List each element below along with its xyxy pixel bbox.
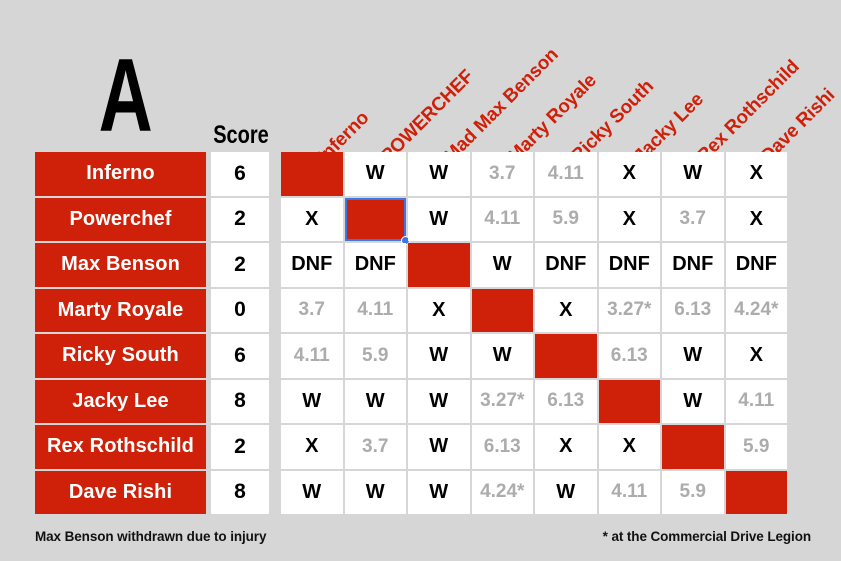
matrix-cell-5-3[interactable]: 3.27* [472,380,534,424]
column-gap [269,425,281,469]
results-matrix[interactable]: Inferno6WW3.74.11XWXPowerchef2XW4.115.9X… [35,152,787,514]
row-label-4[interactable]: Ricky South [35,334,206,378]
matrix-cell-6-2[interactable]: W [408,425,470,469]
matrix-cell-1-0[interactable]: X [281,198,343,242]
footnote-right: * at the Commercial Drive Legion [603,529,811,544]
row-label-0[interactable]: Inferno [35,152,206,196]
column-gap [269,198,281,242]
matrix-cell-2-7[interactable]: DNF [726,243,788,287]
matrix-cell-4-4[interactable] [535,334,597,378]
matrix-cell-0-1[interactable]: W [345,152,407,196]
matrix-cell-5-2[interactable]: W [408,380,470,424]
matrix-cell-3-7[interactable]: 4.24* [726,289,788,333]
matrix-cell-7-6[interactable]: 5.9 [662,471,724,515]
matrix-cell-3-3[interactable] [472,289,534,333]
matrix-cell-1-2[interactable]: W [408,198,470,242]
matrix-cell-0-0[interactable] [281,152,343,196]
matrix-cell-7-0[interactable]: W [281,471,343,515]
score-cell-3[interactable]: 0 [211,289,269,333]
score-cell-4[interactable]: 6 [211,334,269,378]
row-label-1[interactable]: Powerchef [35,198,206,242]
table-row: Jacky Lee8WWW3.27*6.13W4.11 [35,380,787,424]
matrix-cell-7-5[interactable]: 4.11 [599,471,661,515]
matrix-cell-4-6[interactable]: W [662,334,724,378]
matrix-cell-5-0[interactable]: W [281,380,343,424]
matrix-cell-4-2[interactable]: W [408,334,470,378]
matrix-row-3: 3.74.11XX3.27*6.134.24* [281,289,787,333]
matrix-cell-4-0[interactable]: 4.11 [281,334,343,378]
row-label-5[interactable]: Jacky Lee [35,380,206,424]
matrix-cell-4-7[interactable]: X [726,334,788,378]
matrix-cell-6-0[interactable]: X [281,425,343,469]
column-gap [269,289,281,333]
matrix-cell-6-1[interactable]: 3.7 [345,425,407,469]
matrix-cell-6-7[interactable]: 5.9 [726,425,788,469]
matrix-cell-1-3[interactable]: 4.11 [472,198,534,242]
matrix-cell-5-7[interactable]: 4.11 [726,380,788,424]
score-cell-1[interactable]: 2 [211,198,269,242]
matrix-cell-5-4[interactable]: 6.13 [535,380,597,424]
score-cell-2[interactable]: 2 [211,243,269,287]
matrix-cell-2-5[interactable]: DNF [599,243,661,287]
matrix-cell-3-0[interactable]: 3.7 [281,289,343,333]
column-gap [269,152,281,196]
score-cell-5[interactable]: 8 [211,380,269,424]
column-gap [269,471,281,515]
matrix-cell-3-4[interactable]: X [535,289,597,333]
row-label-7[interactable]: Dave Rishi [35,471,206,515]
matrix-cell-1-4[interactable]: 5.9 [535,198,597,242]
matrix-cell-2-6[interactable]: DNF [662,243,724,287]
matrix-row-4: 4.115.9WW6.13WX [281,334,787,378]
row-label-2[interactable]: Max Benson [35,243,206,287]
table-row: Max Benson2DNFDNFWDNFDNFDNFDNF [35,243,787,287]
matrix-cell-7-1[interactable]: W [345,471,407,515]
matrix-cell-6-4[interactable]: X [535,425,597,469]
matrix-row-2: DNFDNFWDNFDNFDNFDNF [281,243,787,287]
matrix-cell-4-1[interactable]: 5.9 [345,334,407,378]
matrix-row-6: X3.7W6.13XX5.9 [281,425,787,469]
matrix-cell-2-0[interactable]: DNF [281,243,343,287]
matrix-cell-6-5[interactable]: X [599,425,661,469]
matrix-cell-2-4[interactable]: DNF [535,243,597,287]
column-header-0: Inferno [314,107,359,152]
matrix-cell-1-7[interactable]: X [726,198,788,242]
column-gap [269,243,281,287]
matrix-cell-5-1[interactable]: W [345,380,407,424]
matrix-row-0: WW3.74.11XWX [281,152,787,196]
matrix-cell-2-1[interactable]: DNF [345,243,407,287]
matrix-cell-0-6[interactable]: W [662,152,724,196]
matrix-cell-0-5[interactable]: X [599,152,661,196]
footnote-left: Max Benson withdrawn due to injury [35,529,266,544]
matrix-cell-3-2[interactable]: X [408,289,470,333]
column-gap [269,334,281,378]
column-gap [269,380,281,424]
score-cell-6[interactable]: 2 [211,425,269,469]
table-row: Powerchef2XW4.115.9X3.7X [35,198,787,242]
matrix-cell-7-2[interactable]: W [408,471,470,515]
column-headers: InfernoPOWERCHEFMad Max BensonMarty Roya… [0,0,841,152]
column-header-1: POWERCHEF [377,66,463,152]
table-row: Ricky South64.115.9WW6.13WX [35,334,787,378]
table-row: Dave Rishi8WWW4.24*W4.115.9 [35,471,787,515]
table-row: Inferno6WW3.74.11XWX [35,152,787,196]
matrix-cell-6-6[interactable] [662,425,724,469]
table-row: Marty Royale03.74.11XX3.27*6.134.24* [35,289,787,333]
matrix-cell-0-7[interactable]: X [726,152,788,196]
matrix-cell-5-6[interactable]: W [662,380,724,424]
matrix-cell-1-1[interactable] [345,198,407,242]
score-cell-7[interactable]: 8 [211,471,269,515]
matrix-row-7: WWW4.24*W4.115.9 [281,471,787,515]
matrix-cell-7-3[interactable]: 4.24* [472,471,534,515]
matrix-cell-7-4[interactable]: W [535,471,597,515]
matrix-cell-4-3[interactable]: W [472,334,534,378]
matrix-cell-3-6[interactable]: 6.13 [662,289,724,333]
matrix-cell-6-3[interactable]: 6.13 [472,425,534,469]
matrix-cell-3-5[interactable]: 3.27* [599,289,661,333]
matrix-cell-1-6[interactable]: 3.7 [662,198,724,242]
matrix-cell-2-2[interactable] [408,243,470,287]
matrix-cell-5-5[interactable] [599,380,661,424]
matrix-cell-1-5[interactable]: X [599,198,661,242]
matrix-cell-3-1[interactable]: 4.11 [345,289,407,333]
row-label-3[interactable]: Marty Royale [35,289,206,333]
matrix-cell-4-5[interactable]: 6.13 [599,334,661,378]
matrix-row-1: XW4.115.9X3.7X [281,198,787,242]
matrix-cell-7-7[interactable] [726,471,788,515]
matrix-cell-0-3[interactable]: 3.7 [472,152,534,196]
matrix-cell-2-3[interactable]: W [472,243,534,287]
matrix-row-5: WWW3.27*6.13W4.11 [281,380,787,424]
matrix-cell-0-4[interactable]: 4.11 [535,152,597,196]
score-cell-0[interactable]: 6 [211,152,269,196]
table-row: Rex Rothschild2X3.7W6.13XX5.9 [35,425,787,469]
row-label-6[interactable]: Rex Rothschild [35,425,206,469]
matrix-cell-0-2[interactable]: W [408,152,470,196]
